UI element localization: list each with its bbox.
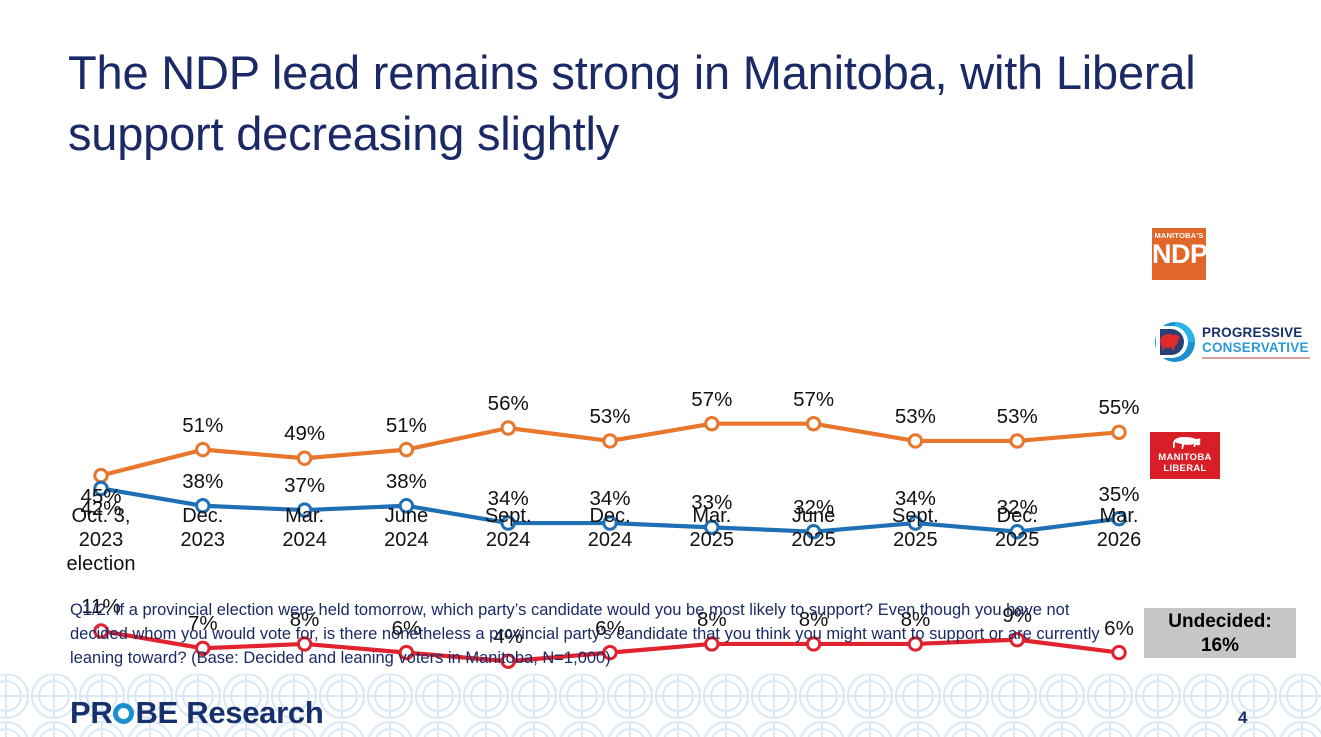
data-label: 51% bbox=[182, 414, 223, 438]
series-marker bbox=[95, 469, 107, 481]
series-marker bbox=[807, 417, 819, 429]
series-marker bbox=[1011, 435, 1023, 447]
pc-logo-line1: PROGRESSIVE bbox=[1202, 325, 1309, 340]
slide: The NDP lead remains strong in Manitoba,… bbox=[0, 0, 1321, 737]
probe-brand-post: BE bbox=[135, 695, 177, 731]
x-axis-tick-label: Mar.2024 bbox=[282, 504, 327, 552]
x-axis-tick-label: Dec.2025 bbox=[995, 504, 1040, 552]
data-label: 53% bbox=[589, 405, 630, 429]
series-line-0 bbox=[101, 424, 1119, 476]
chart-x-axis: Oct. 3,2023electionDec.2023Mar.2024June2… bbox=[0, 490, 1321, 570]
x-axis-tick-label: Mar.2026 bbox=[1097, 504, 1142, 552]
x-axis-tick-label: Dec.2023 bbox=[181, 504, 226, 552]
series-marker bbox=[197, 443, 209, 455]
x-axis-tick-label: Sept.2025 bbox=[892, 504, 939, 552]
data-label: 53% bbox=[997, 405, 1038, 429]
data-label: 56% bbox=[488, 392, 529, 416]
series-marker bbox=[400, 443, 412, 455]
undecided-value: 16% bbox=[1144, 634, 1296, 658]
x-axis-tick-label: Mar.2025 bbox=[690, 504, 735, 552]
x-axis-tick-label: Oct. 3,2023election bbox=[67, 504, 136, 576]
x-axis-tick-label: June2025 bbox=[791, 504, 836, 552]
question-footnote: Q1/2. If a provincial election were held… bbox=[70, 598, 1115, 670]
data-label: 51% bbox=[386, 414, 427, 438]
probe-research-logo: PRBE Research bbox=[70, 695, 323, 731]
series-marker bbox=[706, 417, 718, 429]
x-axis-tick-label: Sept.2024 bbox=[485, 504, 532, 552]
bison-icon bbox=[1167, 435, 1203, 452]
data-label: 57% bbox=[691, 388, 732, 412]
data-label: 55% bbox=[1098, 396, 1139, 420]
series-marker bbox=[1113, 426, 1125, 438]
probe-brand-word: Research bbox=[186, 695, 323, 731]
pc-logo-underline bbox=[1202, 357, 1310, 359]
data-label: 57% bbox=[793, 388, 834, 412]
pc-logo-line2: CONSERVATIVE bbox=[1202, 340, 1309, 355]
liberal-logo-line1: MANITOBA bbox=[1150, 452, 1220, 463]
data-label: 49% bbox=[284, 422, 325, 446]
series-marker bbox=[298, 452, 310, 464]
probe-o-ring-icon bbox=[113, 703, 134, 724]
legend-logo-ndp: MANITOBA'S NDP bbox=[1152, 228, 1206, 280]
page-number: 4 bbox=[1238, 708, 1247, 728]
series-marker bbox=[604, 435, 616, 447]
data-label: 53% bbox=[895, 405, 936, 429]
ndp-logo-large-text: NDP bbox=[1152, 240, 1206, 268]
series-marker bbox=[502, 422, 514, 434]
line-chart: 45%51%49%51%56%53%57%57%53%53%55%42%38%3… bbox=[0, 190, 1321, 580]
page-title: The NDP lead remains strong in Manitoba,… bbox=[68, 42, 1258, 164]
undecided-label: Undecided: bbox=[1144, 610, 1296, 634]
liberal-logo-line2: LIBERAL bbox=[1150, 463, 1220, 474]
x-axis-tick-label: Dec.2024 bbox=[588, 504, 633, 552]
chart-plot-area: 45%51%49%51%56%53%57%57%53%53%55%42%38%3… bbox=[0, 190, 1321, 520]
pc-monogram-icon bbox=[1152, 320, 1198, 364]
series-marker bbox=[909, 435, 921, 447]
legend-logo-progressive-conservative: PROGRESSIVE CONSERVATIVE bbox=[1152, 318, 1312, 368]
pc-logo-text: PROGRESSIVE CONSERVATIVE bbox=[1202, 325, 1309, 355]
undecided-badge: Undecided: 16% bbox=[1144, 608, 1296, 658]
probe-brand-pre: PR bbox=[70, 695, 112, 731]
x-axis-tick-label: June2024 bbox=[384, 504, 429, 552]
legend-logo-manitoba-liberal: MANITOBA LIBERAL bbox=[1150, 432, 1220, 479]
